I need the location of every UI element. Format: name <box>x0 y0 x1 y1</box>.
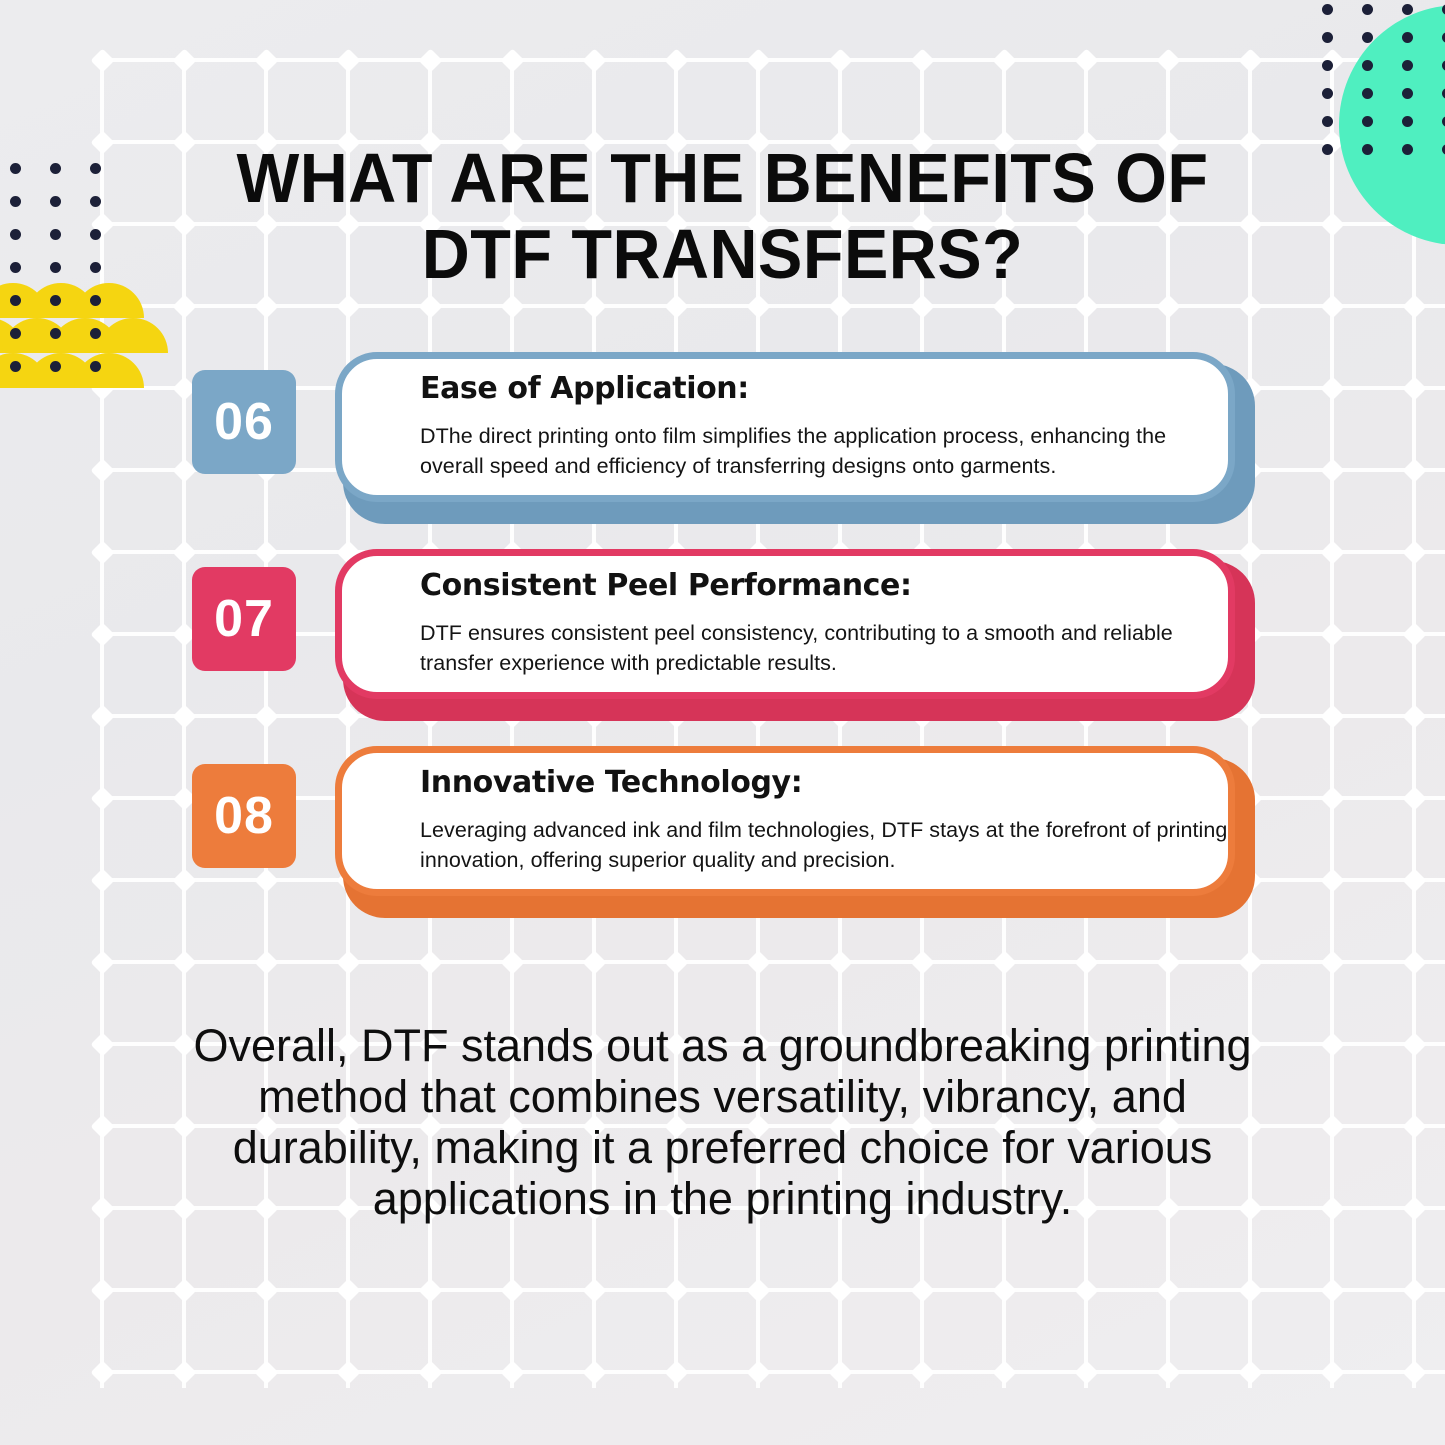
grid-intersection-diamond <box>1074 294 1098 318</box>
grid-intersection-diamond <box>418 1278 442 1302</box>
grid-intersection-diamond <box>582 48 606 72</box>
grid-intersection-diamond <box>992 1360 1016 1384</box>
grid-intersection-diamond <box>1238 48 1262 72</box>
grid-intersection-diamond <box>90 1360 114 1384</box>
grid-intersection-diamond <box>910 1360 934 1384</box>
grid-intersection-diamond <box>1074 48 1098 72</box>
decorative-dot <box>10 328 21 339</box>
grid-intersection-diamond <box>664 950 688 974</box>
grid-intersection-diamond <box>746 294 770 318</box>
decorative-dot <box>50 295 61 306</box>
card-description: DTF ensures consistent peel consistency,… <box>420 618 1232 678</box>
grid-intersection-diamond <box>828 48 852 72</box>
grid-intersection-diamond <box>828 1360 852 1384</box>
decorative-dot <box>1402 144 1413 155</box>
decorative-dot <box>1362 60 1373 71</box>
decorative-dot <box>1322 32 1333 43</box>
grid-intersection-diamond <box>90 130 114 154</box>
grid-intersection-diamond <box>336 294 360 318</box>
decorative-dot <box>1322 144 1333 155</box>
decorative-dot <box>1362 88 1373 99</box>
grid-intersection-diamond <box>90 1278 114 1302</box>
grid-intersection-diamond <box>1320 1278 1344 1302</box>
decorative-dot <box>1362 4 1373 15</box>
benefit-item-08: Innovative Technology: Leveraging advanc… <box>0 742 1445 922</box>
grid-intersection-diamond <box>1238 1278 1262 1302</box>
grid-intersection-diamond <box>664 48 688 72</box>
grid-intersection-diamond <box>172 1360 196 1384</box>
decorative-dot <box>1362 32 1373 43</box>
grid-intersection-diamond <box>910 1278 934 1302</box>
grid-intersection-diamond <box>1402 1114 1426 1138</box>
grid-intersection-diamond <box>336 1360 360 1384</box>
grid-intersection-diamond <box>254 48 278 72</box>
grid-intersection-diamond <box>418 950 442 974</box>
card-heading: Consistent Peel Performance: <box>420 568 912 603</box>
grid-intersection-diamond <box>746 1360 770 1384</box>
benefit-item-06: Ease of Application: DThe direct printin… <box>0 348 1445 528</box>
decorative-dot <box>50 163 61 174</box>
card-number-badge: 08 <box>192 764 296 868</box>
grid-intersection-diamond <box>254 950 278 974</box>
grid-intersection-diamond <box>336 48 360 72</box>
grid-intersection-diamond <box>1402 950 1426 974</box>
grid-intersection-diamond <box>418 1360 442 1384</box>
grid-intersection-diamond <box>1320 294 1344 318</box>
decorative-dot <box>1322 116 1333 127</box>
decorative-dot <box>1402 116 1413 127</box>
card-body-container: Ease of Application: DThe direct printin… <box>335 352 1235 502</box>
grid-intersection-diamond <box>1320 1032 1344 1056</box>
grid-intersection-diamond <box>254 1360 278 1384</box>
grid-intersection-diamond <box>1238 1360 1262 1384</box>
grid-intersection-diamond <box>500 48 524 72</box>
decorative-dot <box>1362 116 1373 127</box>
grid-intersection-diamond <box>254 1278 278 1302</box>
card-heading: Ease of Application: <box>420 371 749 406</box>
grid-intersection-diamond <box>254 294 278 318</box>
grid-intersection-diamond <box>1238 294 1262 318</box>
grid-intersection-diamond <box>746 1278 770 1302</box>
decorative-dot <box>1322 4 1333 15</box>
grid-intersection-diamond <box>1156 950 1180 974</box>
grid-intersection-diamond <box>172 212 196 236</box>
grid-intersection-diamond <box>582 950 606 974</box>
decorative-dot <box>10 262 21 273</box>
grid-intersection-diamond <box>582 1360 606 1384</box>
grid-intersection-diamond <box>1156 1360 1180 1384</box>
grid-intersection-diamond <box>500 1278 524 1302</box>
grid-intersection-diamond <box>664 1360 688 1384</box>
card-description: DThe direct printing onto film simplifie… <box>420 421 1232 481</box>
grid-intersection-diamond <box>90 1114 114 1138</box>
decorative-dot <box>50 229 61 240</box>
grid-intersection-diamond <box>500 950 524 974</box>
dot-grid-top-right-decoration <box>1322 4 1445 172</box>
grid-intersection-diamond <box>992 48 1016 72</box>
decorative-dot <box>1322 88 1333 99</box>
grid-intersection-diamond <box>1320 1360 1344 1384</box>
grid-intersection-diamond <box>910 48 934 72</box>
grid-intersection-diamond <box>1402 1278 1426 1302</box>
grid-intersection-diamond <box>664 1278 688 1302</box>
decorative-dot <box>90 328 101 339</box>
grid-intersection-diamond <box>172 1278 196 1302</box>
grid-intersection-diamond <box>172 130 196 154</box>
grid-intersection-diamond <box>1074 950 1098 974</box>
grid-intersection-diamond <box>992 950 1016 974</box>
page-title: WHAT ARE THE BENEFITS OF DTF TRANSFERS? <box>202 140 1242 292</box>
decorative-dot <box>1322 60 1333 71</box>
grid-intersection-diamond <box>582 294 606 318</box>
grid-intersection-diamond <box>1074 1360 1098 1384</box>
grid-intersection-diamond <box>418 48 442 72</box>
grid-intersection-diamond <box>1320 212 1344 236</box>
dot-grid-left-decoration <box>10 163 102 359</box>
decorative-dot <box>1402 88 1413 99</box>
grid-intersection-diamond <box>1402 294 1426 318</box>
grid-intersection-diamond <box>1402 1032 1426 1056</box>
decorative-dot <box>10 295 21 306</box>
grid-intersection-diamond <box>172 294 196 318</box>
grid-intersection-diamond <box>582 1278 606 1302</box>
closing-paragraph: Overall, DTF stands out as a groundbreak… <box>175 1020 1270 1224</box>
grid-intersection-diamond <box>992 1278 1016 1302</box>
grid-intersection-diamond <box>1156 48 1180 72</box>
infographic-poster: WHAT ARE THE BENEFITS OF DTF TRANSFERS? … <box>0 0 1445 1445</box>
decorative-dot <box>50 196 61 207</box>
decorative-dot <box>10 229 21 240</box>
decorative-dot <box>10 196 21 207</box>
card-body-container: Consistent Peel Performance: DTF ensures… <box>335 549 1235 699</box>
card-number-badge: 07 <box>192 567 296 671</box>
decorative-dot <box>90 196 101 207</box>
grid-intersection-diamond <box>1320 950 1344 974</box>
grid-intersection-diamond <box>664 294 688 318</box>
grid-intersection-diamond <box>828 294 852 318</box>
grid-intersection-diamond <box>1238 950 1262 974</box>
decorative-dot <box>90 262 101 273</box>
decorative-dot <box>1362 144 1373 155</box>
grid-intersection-diamond <box>746 48 770 72</box>
grid-intersection-diamond <box>172 48 196 72</box>
decorative-dot <box>90 295 101 306</box>
decorative-dot <box>90 229 101 240</box>
card-body-container: Innovative Technology: Leveraging advanc… <box>335 746 1235 896</box>
grid-intersection-diamond <box>336 950 360 974</box>
decorative-dot <box>50 328 61 339</box>
decorative-dot <box>1402 60 1413 71</box>
decorative-dot <box>1402 4 1413 15</box>
grid-intersection-diamond <box>90 1032 114 1056</box>
grid-intersection-diamond <box>910 294 934 318</box>
grid-intersection-diamond <box>90 950 114 974</box>
grid-intersection-diamond <box>336 1278 360 1302</box>
grid-intersection-diamond <box>1402 1360 1426 1384</box>
grid-intersection-diamond <box>910 950 934 974</box>
decorative-dot <box>10 163 21 174</box>
grid-intersection-diamond <box>992 294 1016 318</box>
grid-intersection-diamond <box>90 48 114 72</box>
decorative-dot <box>50 262 61 273</box>
grid-intersection-diamond <box>828 1278 852 1302</box>
grid-intersection-diamond <box>172 950 196 974</box>
benefit-item-07: Consistent Peel Performance: DTF ensures… <box>0 545 1445 725</box>
decorative-dot <box>90 163 101 174</box>
grid-intersection-diamond <box>1074 1278 1098 1302</box>
card-heading: Innovative Technology: <box>420 765 802 800</box>
grid-intersection-diamond <box>500 294 524 318</box>
grid-intersection-diamond <box>1156 294 1180 318</box>
grid-intersection-diamond <box>746 950 770 974</box>
grid-intersection-diamond <box>418 294 442 318</box>
grid-intersection-diamond <box>90 1196 114 1220</box>
decorative-dot <box>1402 32 1413 43</box>
grid-intersection-diamond <box>500 1360 524 1384</box>
card-description: Leveraging advanced ink and film technol… <box>420 815 1232 875</box>
grid-intersection-diamond <box>1320 1114 1344 1138</box>
card-number-badge: 06 <box>192 370 296 474</box>
grid-intersection-diamond <box>1320 1196 1344 1220</box>
grid-intersection-diamond <box>1402 1196 1426 1220</box>
grid-intersection-diamond <box>828 950 852 974</box>
grid-intersection-diamond <box>1156 1278 1180 1302</box>
